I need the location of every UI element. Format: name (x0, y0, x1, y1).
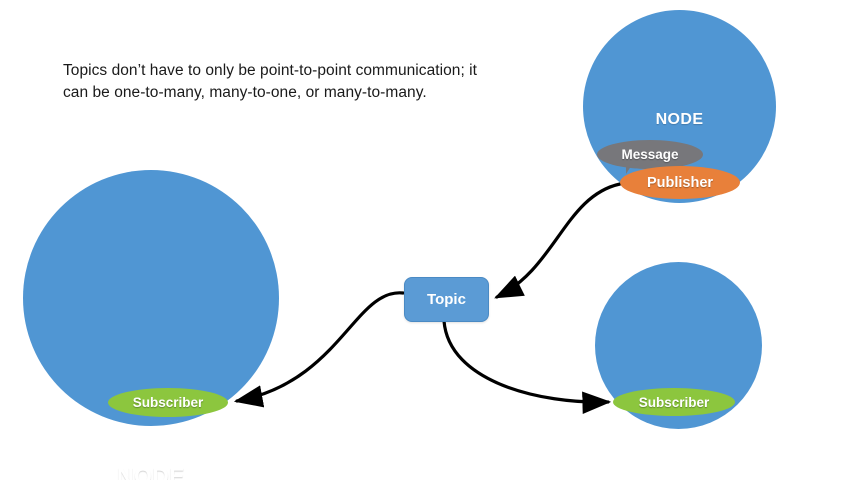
topic-box[interactable]: Topic (404, 277, 489, 322)
subscriber-pill-left[interactable]: Subscriber (108, 388, 228, 417)
publisher-pill[interactable]: Publisher (620, 166, 740, 199)
subscriber-pill-right[interactable]: Subscriber (613, 388, 735, 416)
caption-text: Topics don’t have to only be point-to-po… (63, 60, 483, 105)
subscriber-node-left-label: NODE (23, 463, 279, 480)
publisher-node-label: NODE (583, 111, 776, 129)
edge-publisher-to-topic (497, 184, 620, 297)
edge-topic-to-subscriber-right (444, 321, 608, 402)
message-bubble[interactable]: Message (597, 140, 703, 169)
slide-canvas: Topics don’t have to only be point-to-po… (0, 0, 854, 480)
